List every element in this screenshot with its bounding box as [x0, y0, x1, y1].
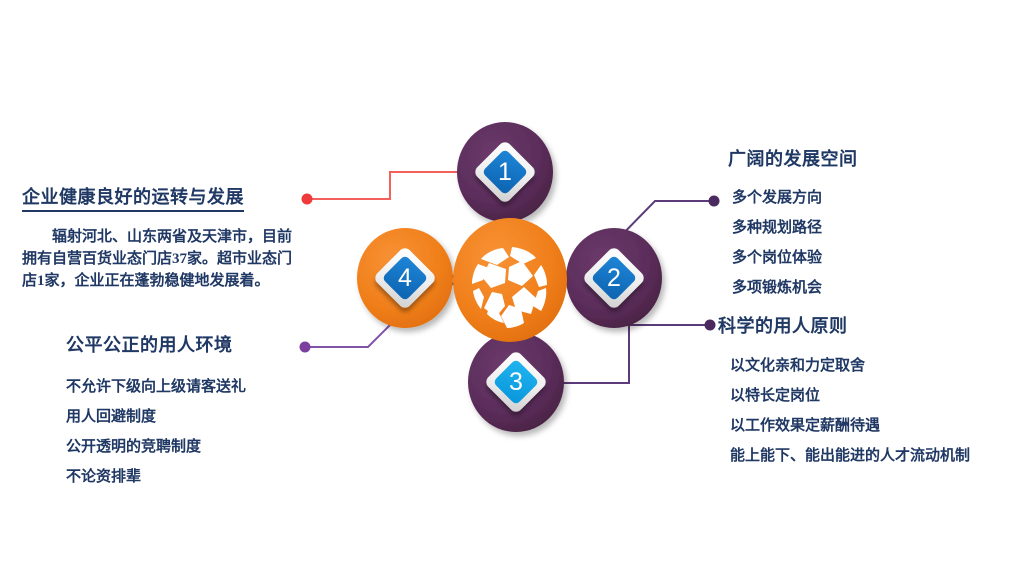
block-top-right-list: 多个发展方向 多种规划路径 多个岗位体验 多项锻炼机会 — [728, 186, 1008, 297]
node-3-number: 3 — [496, 362, 536, 402]
block-top-right: 广阔的发展空间 多个发展方向 多种规划路径 多个岗位体验 多项锻炼机会 — [728, 145, 1008, 306]
block-bottom-left-title: 公平公正的用人环境 — [66, 331, 366, 357]
node-2-number: 2 — [594, 258, 634, 298]
block-top-left-body: 辐射河北、山东两省及天津市，目前拥有自营百货业态门店37家。超市业态门店1家，企… — [22, 226, 294, 292]
node-4-number: 4 — [385, 258, 425, 298]
list-item: 能上能下、能出能进的人才流动机制 — [730, 444, 1018, 465]
center-hub[interactable] — [453, 218, 567, 342]
list-item: 多个发展方向 — [732, 186, 1008, 207]
block-top-right-title: 广阔的发展空间 — [728, 145, 1008, 171]
list-item: 多种规划路径 — [732, 216, 1008, 237]
list-item: 多项锻炼机会 — [732, 276, 1008, 297]
connector-top-left — [302, 172, 471, 205]
list-item: 不论资排辈 — [66, 465, 366, 486]
node-1-number: 1 — [485, 152, 525, 192]
block-bottom-right: 科学的用人原则 以文化亲和力定取舍 以特长定岗位 以工作效果定薪酬待遇 能上能下… — [718, 312, 1018, 474]
block-top-left-title: 企业健康良好的运转与发展 — [22, 183, 244, 212]
list-item: 多个岗位体验 — [732, 246, 1008, 267]
connector-bottom-right — [560, 320, 716, 384]
list-item: 公开透明的竞聘制度 — [66, 435, 366, 456]
slide-canvas: 1 2 3 4 企业健康良好的运转与发展 辐射河北、山东两省及天津市，目前拥有自… — [0, 0, 1018, 569]
block-top-left: 企业健康良好的运转与发展 辐射河北、山东两省及天津市，目前拥有自营百货业态门店3… — [22, 183, 322, 292]
block-bottom-right-list: 以文化亲和力定取舍 以特长定岗位 以工作效果定薪酬待遇 能上能下、能出能进的人才… — [718, 354, 1018, 465]
block-bottom-left: 公平公正的用人环境 不允许下级向上级请客送礼 用人回避制度 公开透明的竞聘制度 … — [66, 331, 366, 495]
list-item: 用人回避制度 — [66, 405, 366, 426]
list-item: 以工作效果定薪酬待遇 — [730, 414, 1018, 435]
list-item: 以文化亲和力定取舍 — [730, 354, 1018, 375]
block-top-left-paragraph: 辐射河北、山东两省及天津市，目前拥有自营百货业态门店37家。超市业态门店1家，企… — [22, 226, 294, 292]
list-item: 以特长定岗位 — [730, 384, 1018, 405]
block-bottom-left-list: 不允许下级向上级请客送礼 用人回避制度 公开透明的竞聘制度 不论资排辈 — [66, 375, 366, 486]
list-item: 不允许下级向上级请客送礼 — [66, 375, 366, 396]
block-bottom-right-title: 科学的用人原则 — [718, 312, 1018, 338]
